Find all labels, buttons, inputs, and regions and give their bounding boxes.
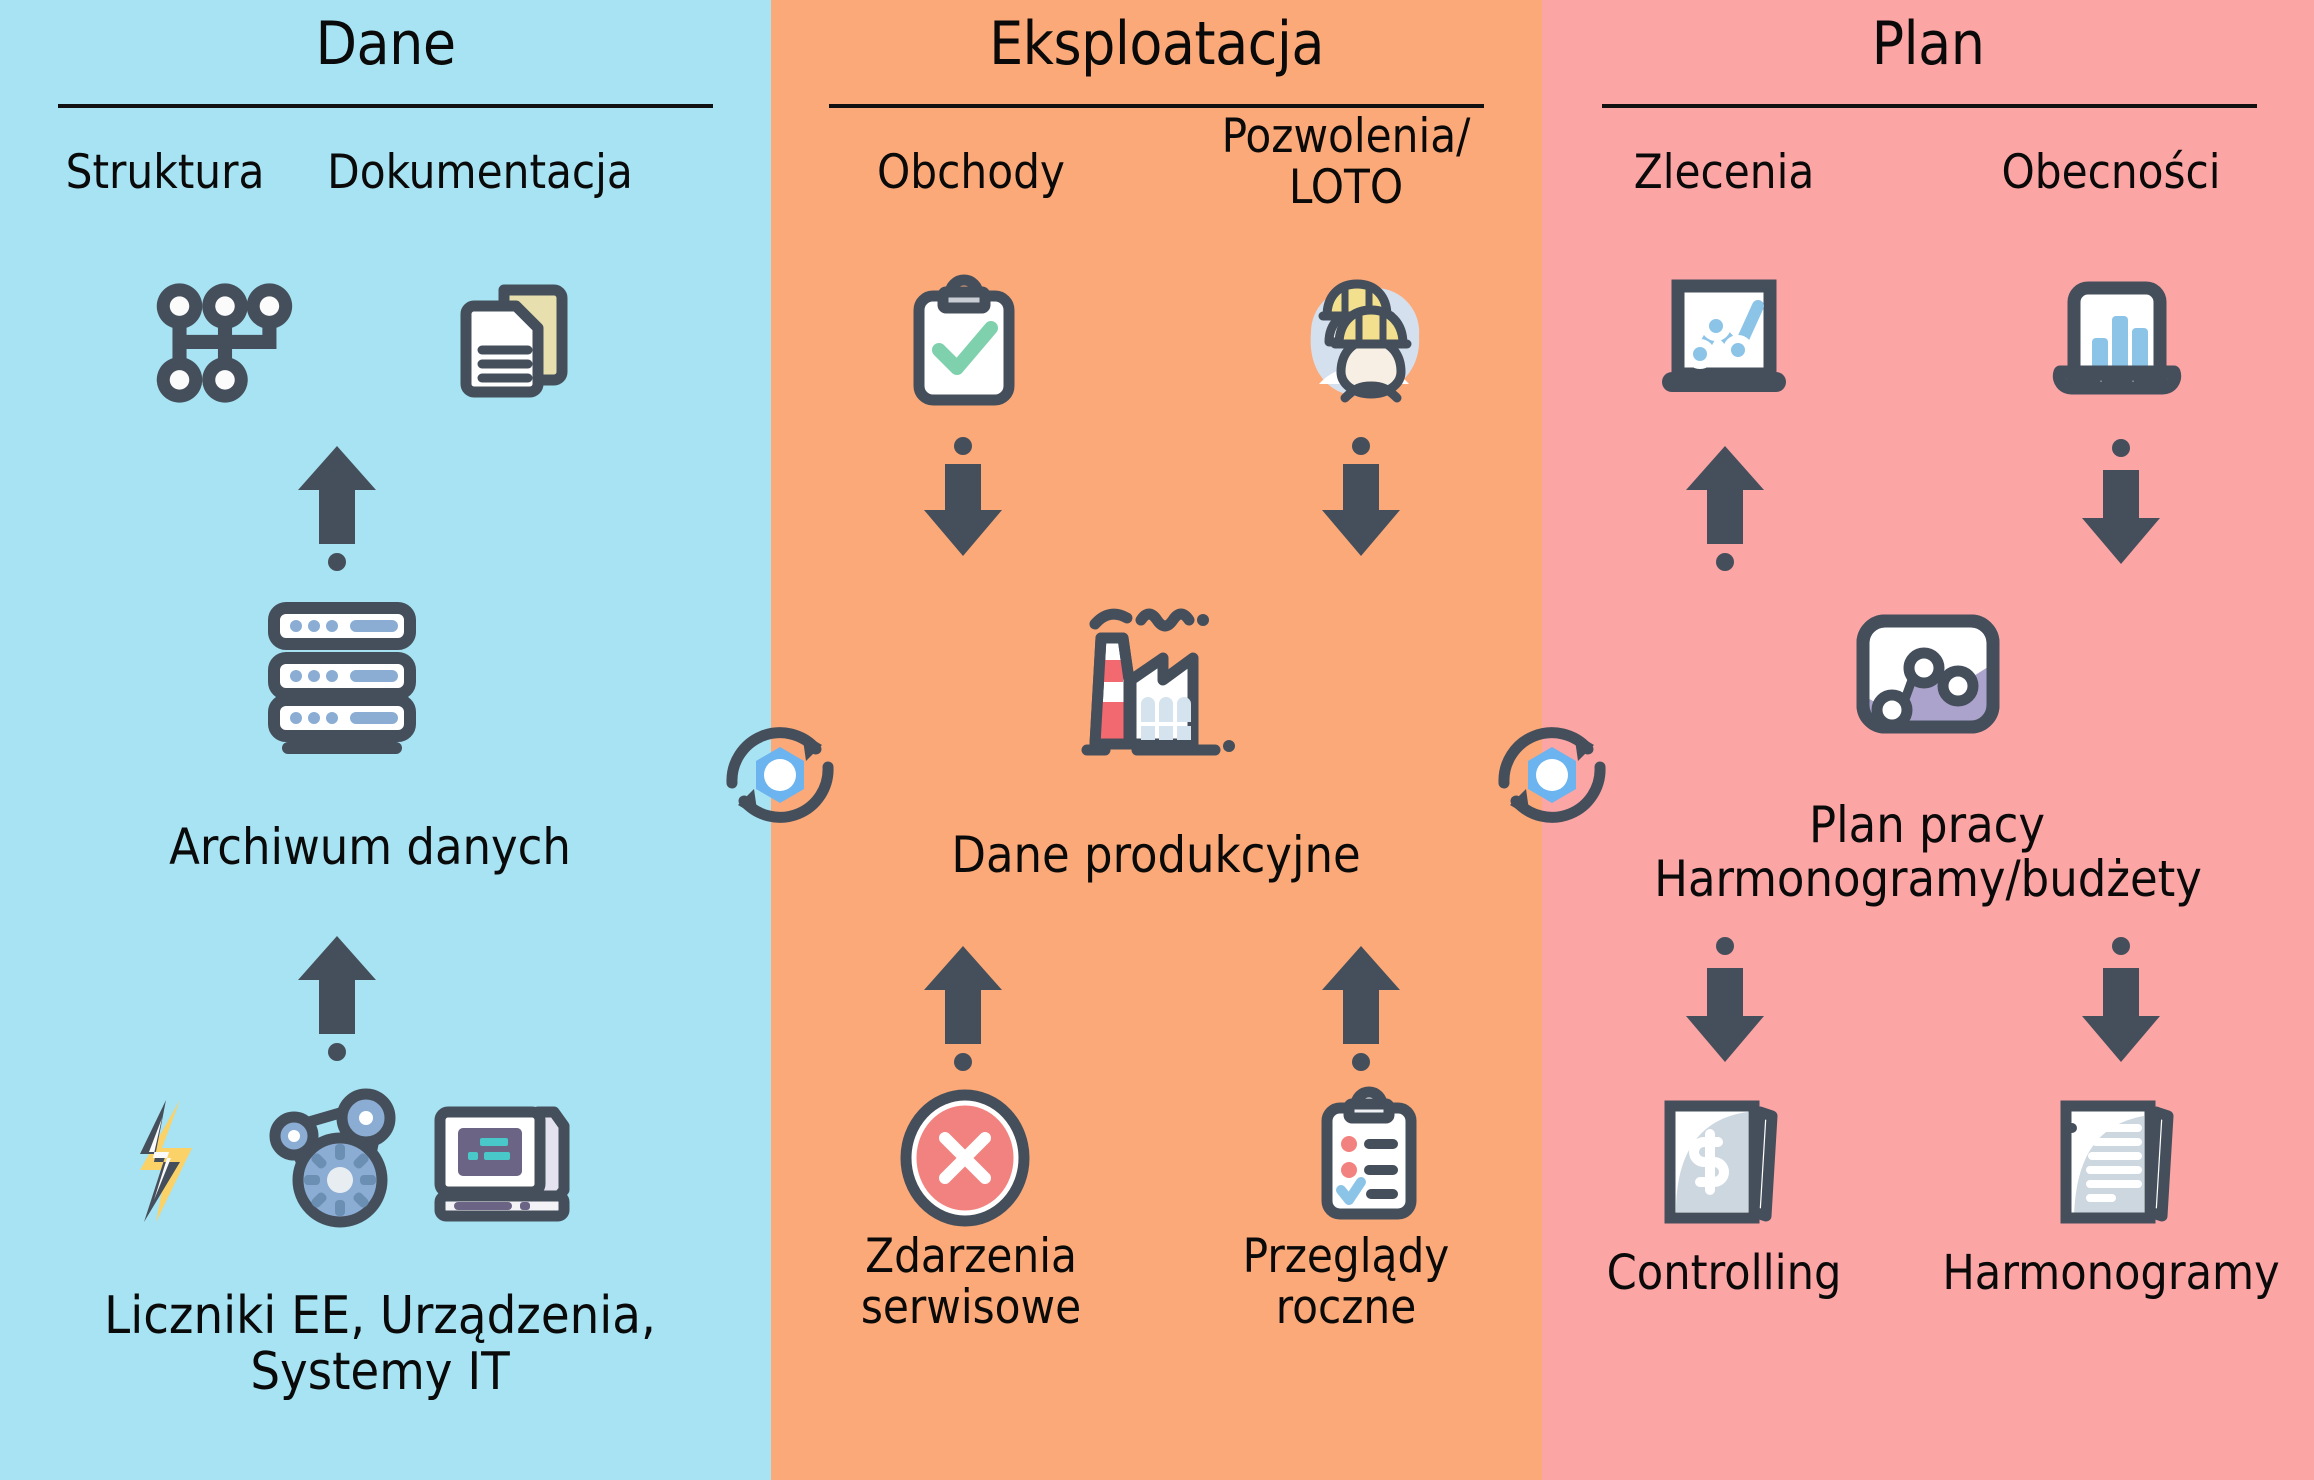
documents-stack-icon bbox=[452, 280, 584, 404]
label-zdarzenia-serwisowe: Zdarzenia serwisowe bbox=[791, 1232, 1151, 1334]
label-dokumentacja: Dokumentacja bbox=[240, 148, 720, 199]
label-pozwolenia-loto: Pozwolenia/ LOTO bbox=[1151, 112, 1541, 214]
arrow-attendance-to-workplan bbox=[2076, 440, 2166, 570]
arrow-service-events-to-production bbox=[913, 940, 1013, 1070]
arrow-structure-to-archive bbox=[292, 440, 382, 570]
arrow-orders-to-workplan bbox=[1680, 440, 1770, 570]
label-liczniki-urzadzenia-systemy-it: Liczniki EE, Urządzenia, Systemy IT bbox=[0, 1288, 760, 1400]
workers-helmets-icon bbox=[1297, 272, 1433, 404]
label-zlecenia: Zlecenia bbox=[1542, 148, 1906, 199]
laptop-bar-chart-icon bbox=[2050, 276, 2184, 400]
arrow-meters-to-archive bbox=[292, 930, 382, 1060]
panel-plan: Plan Zlecenia Obecności bbox=[1542, 0, 2314, 1480]
label-harmonogramy-budzety: Harmonogramy/budżety bbox=[1552, 852, 2304, 906]
panel-title-plan: Plan bbox=[1542, 14, 2314, 74]
label-dane-produkcyjne: Dane produkcyjne bbox=[791, 828, 1521, 882]
panel-dane: Dane Struktura Dokum bbox=[0, 0, 771, 1480]
pulley-gears-icon bbox=[268, 1096, 400, 1226]
panel-title-dane: Dane bbox=[0, 14, 771, 74]
panel-rule-eksploatacja bbox=[829, 104, 1484, 108]
arrow-workplan-to-controlling bbox=[1680, 938, 1770, 1068]
factory-icon bbox=[1079, 598, 1239, 766]
label-plan-pracy: Plan pracy bbox=[1562, 798, 2292, 852]
panel-rule-plan bbox=[1602, 104, 2257, 108]
label-obchody: Obchody bbox=[791, 148, 1151, 199]
panel-rule-dane bbox=[58, 104, 713, 108]
clipboard-check-icon bbox=[909, 278, 1019, 406]
sync-data-operations bbox=[718, 713, 842, 837]
panel-title-eksploatacja: Eksploatacja bbox=[771, 14, 1542, 74]
arrow-annual-reviews-to-production bbox=[1311, 940, 1411, 1070]
error-circle-icon bbox=[903, 1094, 1027, 1222]
label-controlling: Controlling bbox=[1542, 1248, 1906, 1300]
panel-eksploatacja: Eksploatacja Obchody Pozwolenia/ LOTO bbox=[771, 0, 1542, 1480]
area-chart-icon bbox=[1854, 612, 2002, 736]
arrow-rounds-to-production bbox=[913, 438, 1013, 562]
retro-computer-icon bbox=[432, 1104, 572, 1222]
sync-operations-plan bbox=[1490, 713, 1614, 837]
document-lines-icon bbox=[2058, 1094, 2182, 1224]
laptop-line-chart-icon bbox=[1656, 278, 1792, 404]
structure-nodes-icon bbox=[160, 278, 290, 408]
server-rack-icon bbox=[258, 600, 426, 760]
label-obecnosci: Obecności bbox=[1916, 148, 2306, 199]
arrow-workplan-to-schedules bbox=[2076, 938, 2166, 1068]
label-harmonogramy: Harmonogramy bbox=[1916, 1248, 2306, 1300]
process-diagram: Dane Struktura Dokum bbox=[0, 0, 2314, 1480]
arrow-permits-to-production bbox=[1311, 438, 1411, 562]
label-przeglady-roczne: Przeglądy roczne bbox=[1161, 1232, 1531, 1334]
label-archiwum-danych: Archiwum danych bbox=[20, 820, 720, 874]
checklist-clipboard-icon bbox=[1317, 1090, 1421, 1224]
lightning-bolt-icon bbox=[122, 1096, 218, 1226]
invoice-dollar-icon bbox=[1662, 1094, 1786, 1224]
